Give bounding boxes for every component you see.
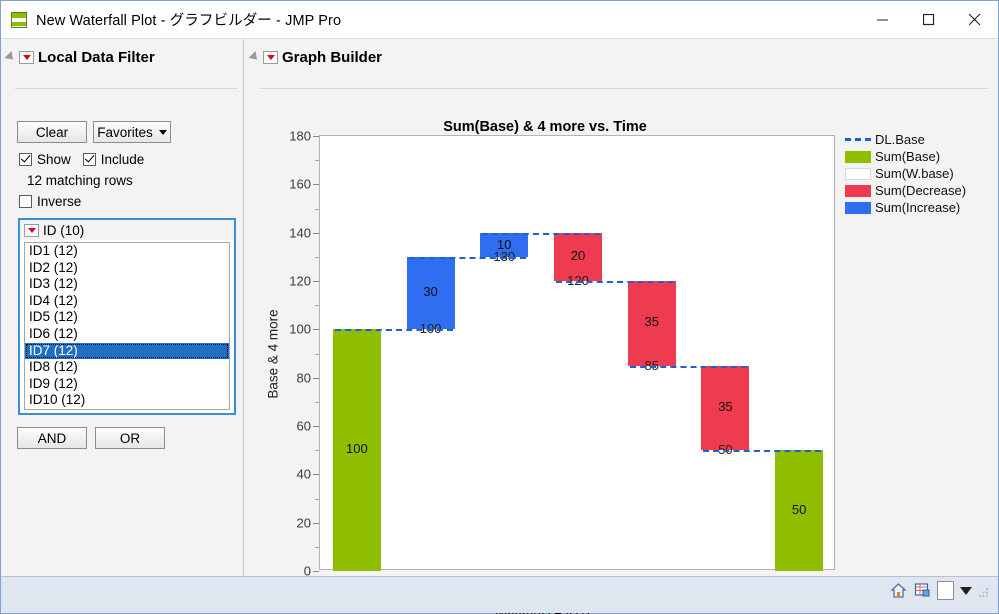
y-axis-tick-label: 20 [297, 515, 311, 530]
window-content: Local Data Filter Clear Favorites Show I… [1, 39, 998, 576]
y-axis-tick-label: 100 [289, 322, 311, 337]
local-data-filter-panel: Local Data Filter Clear Favorites Show I… [1, 39, 244, 576]
chevron-down-icon [159, 130, 167, 135]
plot-frame[interactable]: 1003010203535501001301208550 [319, 135, 835, 570]
window-title: New Waterfall Plot - グラフビルダー - JMP Pro [36, 9, 341, 30]
legend-item[interactable]: Sum(Increase) [845, 199, 995, 216]
bar-value-label: 50 [775, 502, 823, 517]
inverse-row: Inverse [19, 194, 93, 209]
y-axis-tick-label: 140 [289, 225, 311, 240]
panel-divider [15, 88, 238, 89]
disclosure-triangle-icon[interactable] [4, 51, 16, 63]
legend-item[interactable]: Sum(W.base) [845, 165, 995, 182]
filter-column-header[interactable]: ID (10) [20, 220, 234, 240]
dl-base-connector [482, 233, 600, 235]
filter-list-item[interactable]: ID5 (12) [25, 309, 229, 326]
waterfall-plot: Sum(Base) & 4 more vs. Time Base & 4 mor… [245, 69, 998, 569]
clear-button[interactable]: Clear [17, 121, 87, 143]
legend-item[interactable]: Sum(Base) [845, 148, 995, 165]
legend-item[interactable]: Sum(Decrease) [845, 182, 995, 199]
window-titlebar: New Waterfall Plot - グラフビルダー - JMP Pro [1, 1, 998, 39]
disclosure-triangle-icon[interactable] [248, 51, 260, 63]
blank-page-icon[interactable] [937, 581, 954, 600]
y-axis-tick-label: 120 [289, 274, 311, 289]
y-axis: Base & 4 more 020406080100120140160180 [245, 135, 319, 572]
chevron-down-icon[interactable] [960, 587, 972, 595]
filter-list-item[interactable]: ID6 (12) [25, 326, 229, 343]
legend-label: Sum(Decrease) [875, 183, 966, 198]
local-data-filter-header[interactable]: Local Data Filter [1, 45, 243, 69]
legend-swatch [845, 202, 871, 214]
home-icon[interactable] [889, 582, 907, 600]
waterfall-bar[interactable]: 30 [407, 257, 455, 330]
favorites-button[interactable]: Favorites [93, 121, 171, 143]
window-controls [860, 1, 998, 38]
close-icon[interactable] [952, 1, 998, 38]
status-bar-icons [889, 581, 990, 600]
filter-column-listbox[interactable]: ID (10) ID1 (12)ID2 (12)ID3 (12)ID4 (12)… [19, 219, 235, 414]
inverse-label: Inverse [37, 194, 81, 209]
or-button[interactable]: OR [95, 427, 165, 449]
chart-title: Sum(Base) & 4 more vs. Time [245, 119, 845, 135]
legend-swatch [845, 185, 871, 197]
dl-base-connector [556, 281, 674, 283]
inverse-checkbox[interactable] [19, 195, 32, 208]
dl-base-connector [630, 366, 748, 368]
legend-label: Sum(W.base) [875, 166, 954, 181]
y-axis-tick-label: 160 [289, 177, 311, 192]
y-axis-tick-label: 40 [297, 467, 311, 482]
bar-value-label: 30 [407, 284, 455, 299]
legend-label: Sum(Base) [875, 149, 940, 164]
show-label: Show [37, 152, 71, 167]
filter-list-item[interactable]: ID8 (12) [25, 359, 229, 376]
graph-builder-title: Graph Builder [282, 49, 382, 66]
waterfall-bar[interactable]: 50 [775, 450, 823, 571]
red-triangle-menu-icon[interactable] [263, 51, 278, 64]
dl-base-connector [409, 257, 527, 259]
jmp-table-icon [11, 12, 27, 28]
y-axis-tick-label: 180 [289, 129, 311, 144]
bar-value-label: 35 [701, 399, 749, 414]
filter-list-item[interactable]: ID7 (12) [25, 343, 229, 360]
filter-list-item[interactable]: ID9 (12) [25, 376, 229, 393]
favorites-label: Favorites [97, 125, 153, 140]
legend-item[interactable]: DL.Base [845, 131, 995, 148]
bar-value-label: 100 [333, 441, 381, 456]
status-bar [1, 576, 998, 613]
filter-button-row: Clear Favorites [17, 121, 171, 143]
show-include-row: Show Include [19, 152, 156, 167]
bar-value-label: 20 [554, 248, 602, 263]
and-or-row: AND OR [17, 427, 165, 449]
legend-label: Sum(Increase) [875, 200, 960, 215]
include-checkbox[interactable] [83, 153, 96, 166]
graph-builder-panel: Graph Builder Sum(Base) & 4 more vs. Tim… [245, 39, 998, 576]
dl-base-connector [335, 329, 453, 331]
chart-legend[interactable]: DL.BaseSum(Base)Sum(W.base)Sum(Decrease)… [845, 131, 995, 216]
column-red-triangle-icon[interactable] [24, 224, 39, 237]
data-table-icon[interactable] [913, 582, 931, 600]
filter-column-label: ID (10) [43, 223, 84, 238]
filter-list-item[interactable]: ID10 (12) [25, 392, 229, 409]
filter-list-item[interactable]: ID4 (12) [25, 293, 229, 310]
filter-list-item[interactable]: ID2 (12) [25, 260, 229, 277]
matching-rows-text: 12 matching rows [27, 173, 133, 188]
filter-list-item[interactable]: ID3 (12) [25, 276, 229, 293]
legend-swatch [845, 138, 871, 141]
jmp-window: New Waterfall Plot - グラフビルダー - JMP Pro L… [0, 0, 999, 614]
legend-label: DL.Base [875, 132, 925, 147]
legend-swatch [845, 151, 871, 163]
show-checkbox[interactable] [19, 153, 32, 166]
filter-value-list[interactable]: ID1 (12)ID2 (12)ID3 (12)ID4 (12)ID5 (12)… [24, 242, 230, 410]
y-axis-tick-label: 80 [297, 370, 311, 385]
waterfall-bar[interactable]: 35 [628, 281, 676, 366]
bar-value-label: 35 [628, 314, 676, 329]
legend-swatch [845, 168, 871, 180]
dl-base-connector [703, 450, 821, 452]
include-label: Include [101, 152, 145, 167]
y-axis-tick-label: 60 [297, 419, 311, 434]
y-axis-label: Base & 4 more [266, 274, 281, 434]
waterfall-bar[interactable]: 100 [333, 329, 381, 571]
maximize-icon[interactable] [906, 1, 952, 38]
red-triangle-menu-icon[interactable] [19, 51, 34, 64]
graph-builder-header[interactable]: Graph Builder [245, 45, 998, 69]
waterfall-bar[interactable]: 35 [701, 366, 749, 451]
local-data-filter-title: Local Data Filter [38, 49, 155, 66]
resize-grip-icon[interactable] [978, 585, 990, 597]
and-button[interactable]: AND [17, 427, 87, 449]
minimize-icon[interactable] [860, 1, 906, 38]
filter-list-item[interactable]: ID1 (12) [25, 243, 229, 260]
